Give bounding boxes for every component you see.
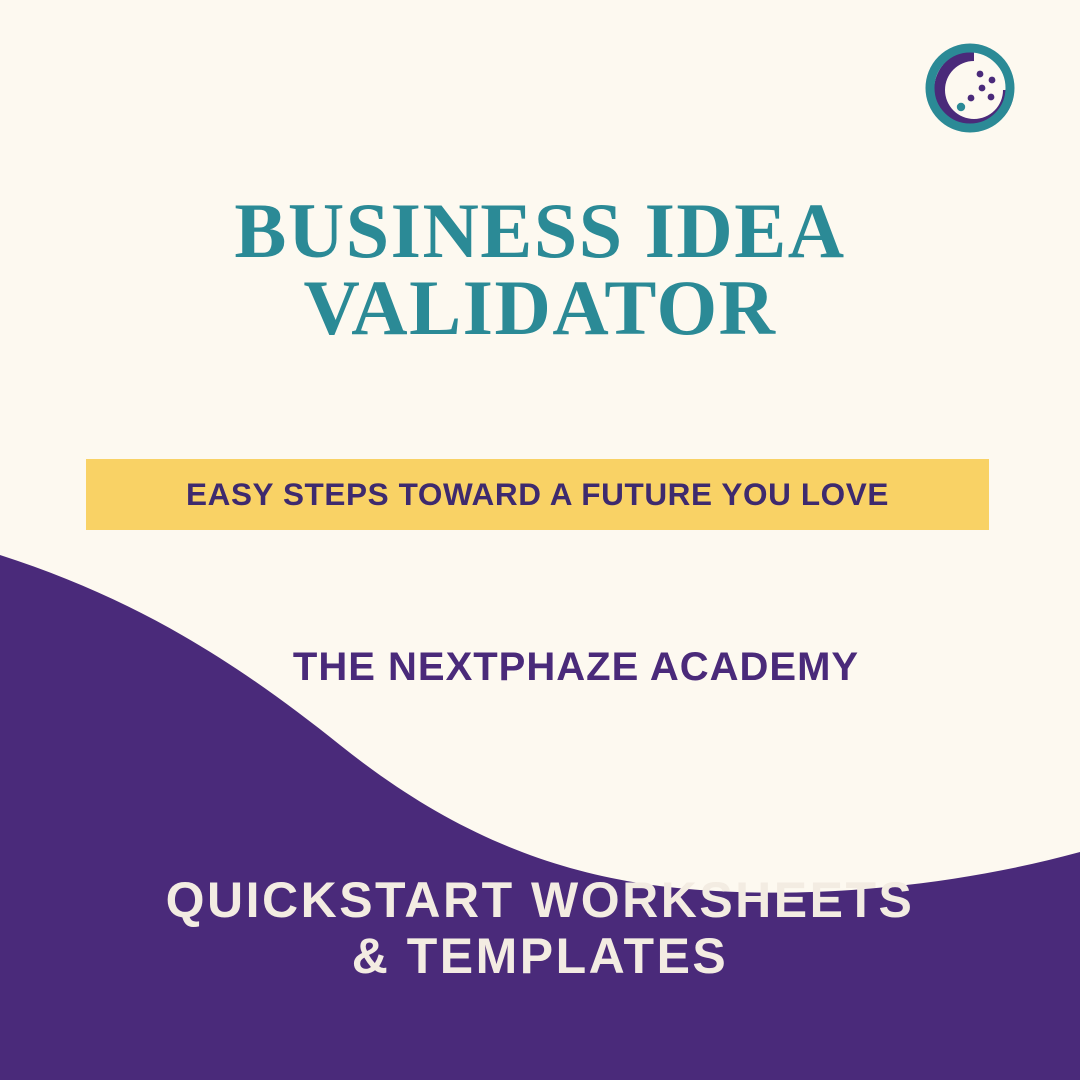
title-line-1: BUSINESS IDEA bbox=[234, 187, 845, 274]
nextphaze-circle-logo bbox=[918, 34, 1030, 146]
caption-line-1: QUICKSTART WORKSHEETS bbox=[166, 872, 915, 928]
page-title: BUSINESS IDEA VALIDATOR bbox=[0, 192, 1080, 346]
subtitle-text: EASY STEPS TOWARD A FUTURE YOU LOVE bbox=[186, 476, 889, 513]
cover-page: BUSINESS IDEA VALIDATOR EASY STEPS TOWAR… bbox=[0, 0, 1080, 1080]
subtitle-band: EASY STEPS TOWARD A FUTURE YOU LOVE bbox=[86, 459, 989, 530]
caption-line-2: & TEMPLATES bbox=[0, 928, 1080, 984]
title-line-2: VALIDATOR bbox=[0, 269, 1080, 346]
bottom-caption: QUICKSTART WORKSHEETS & TEMPLATES bbox=[0, 872, 1080, 984]
academy-name: THE NEXTPHAZE ACADEMY bbox=[0, 645, 1080, 690]
